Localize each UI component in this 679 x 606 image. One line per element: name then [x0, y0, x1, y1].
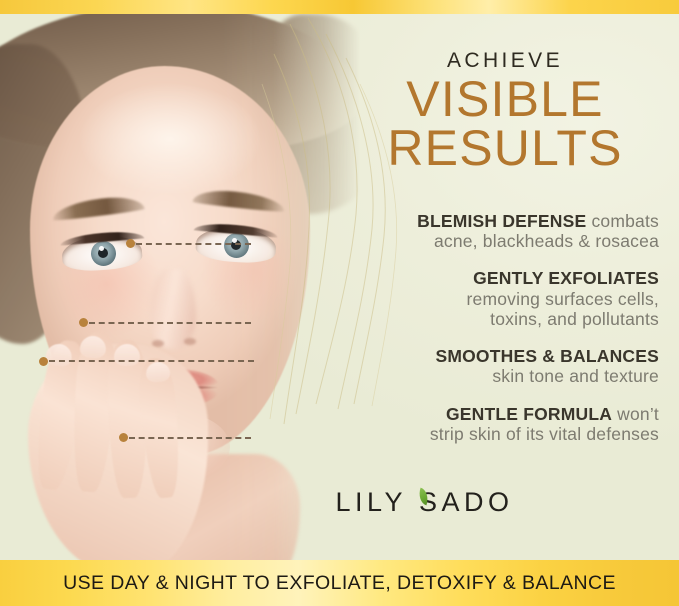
footer-tagline-text: USE DAY & NIGHT TO EXFOLIATE, DETOXIFY &… — [63, 572, 616, 595]
benefit-secondary-text: removing surfaces cells, — [466, 289, 659, 309]
benefit-secondary-text: skin tone and texture — [492, 366, 659, 386]
benefit-secondary-text: acne, blackheads & rosacea — [434, 231, 659, 251]
bullet-dot-icon — [119, 433, 128, 442]
benefit-secondary-text: strip skin of its vital defenses — [430, 424, 659, 444]
benefit-line-2: skin tone and texture — [239, 367, 659, 387]
brand-logo-text: LILY SADO — [165, 487, 513, 518]
brand-logo: LILY SADO — [0, 487, 679, 518]
benefit-item-blemish-defense: BLEMISH DEFENSE combats acne, blackheads… — [239, 212, 659, 252]
nose — [150, 269, 196, 349]
product-ad-banner: ACHIEVE VISIBLE RESULTS BLEMISH DEFENSE … — [0, 0, 679, 606]
top-accent-band — [0, 0, 679, 14]
benefit-item-smoothes-balances: SMOOTHES & BALANCES skin tone and textur… — [239, 347, 659, 387]
forehead-highlight — [80, 84, 260, 194]
leader-line-2 — [79, 318, 251, 327]
nostril-right — [184, 338, 196, 345]
benefit-inline-text: won’t — [612, 404, 659, 424]
benefit-strong-text: SMOOTHES & BALANCES — [435, 346, 659, 366]
benefit-line-2: acne, blackheads & rosacea — [239, 232, 659, 252]
dashed-rule — [49, 360, 254, 362]
footer-tagline-band: USE DAY & NIGHT TO EXFOLIATE, DETOXIFY &… — [0, 560, 679, 606]
nostril-left — [152, 340, 164, 347]
dashed-rule — [129, 437, 251, 439]
bullet-dot-icon — [126, 239, 135, 248]
benefit-inline-text: combats — [586, 211, 659, 231]
benefit-item-gentle-formula: GENTLE FORMULA won’t strip skin of its v… — [239, 405, 659, 445]
brand-name-part-1: LILY — [335, 487, 407, 517]
benefit-line-2: removing surfaces cells, — [239, 290, 659, 310]
bullet-dot-icon — [39, 357, 48, 366]
benefit-item-gently-exfoliates: GENTLY EXFOLIATES removing surfaces cell… — [239, 269, 659, 330]
benefit-line-1: GENTLE FORMULA won’t — [239, 405, 659, 425]
benefit-strong-text: BLEMISH DEFENSE — [417, 211, 586, 231]
benefits-list: BLEMISH DEFENSE combats acne, blackheads… — [239, 212, 659, 462]
bullet-dot-icon — [79, 318, 88, 327]
leader-line-4 — [119, 433, 251, 442]
eye-glint-left — [99, 246, 104, 251]
brand-name-part-2: SADO — [419, 487, 514, 517]
headline-line-2: RESULTS — [355, 124, 655, 173]
benefit-strong-text: GENTLE FORMULA — [446, 404, 612, 424]
headline-block: ACHIEVE VISIBLE RESULTS — [355, 50, 655, 172]
dashed-rule — [136, 243, 251, 245]
headline-eyebrow: ACHIEVE — [355, 50, 655, 71]
benefit-line-1: SMOOTHES & BALANCES — [239, 347, 659, 367]
benefit-line-2: strip skin of its vital defenses — [239, 425, 659, 445]
leader-line-1 — [126, 239, 251, 248]
benefit-strong-text: GENTLY EXFOLIATES — [473, 268, 659, 288]
benefit-tertiary-text: toxins, and pollutants — [490, 309, 659, 329]
dashed-rule — [89, 322, 251, 324]
leader-line-3 — [39, 357, 254, 366]
benefit-line-1: GENTLY EXFOLIATES — [239, 269, 659, 289]
benefit-line-3: toxins, and pollutants — [239, 310, 659, 330]
benefit-line-1: BLEMISH DEFENSE combats — [239, 212, 659, 232]
headline-line-1: VISIBLE — [355, 75, 655, 124]
